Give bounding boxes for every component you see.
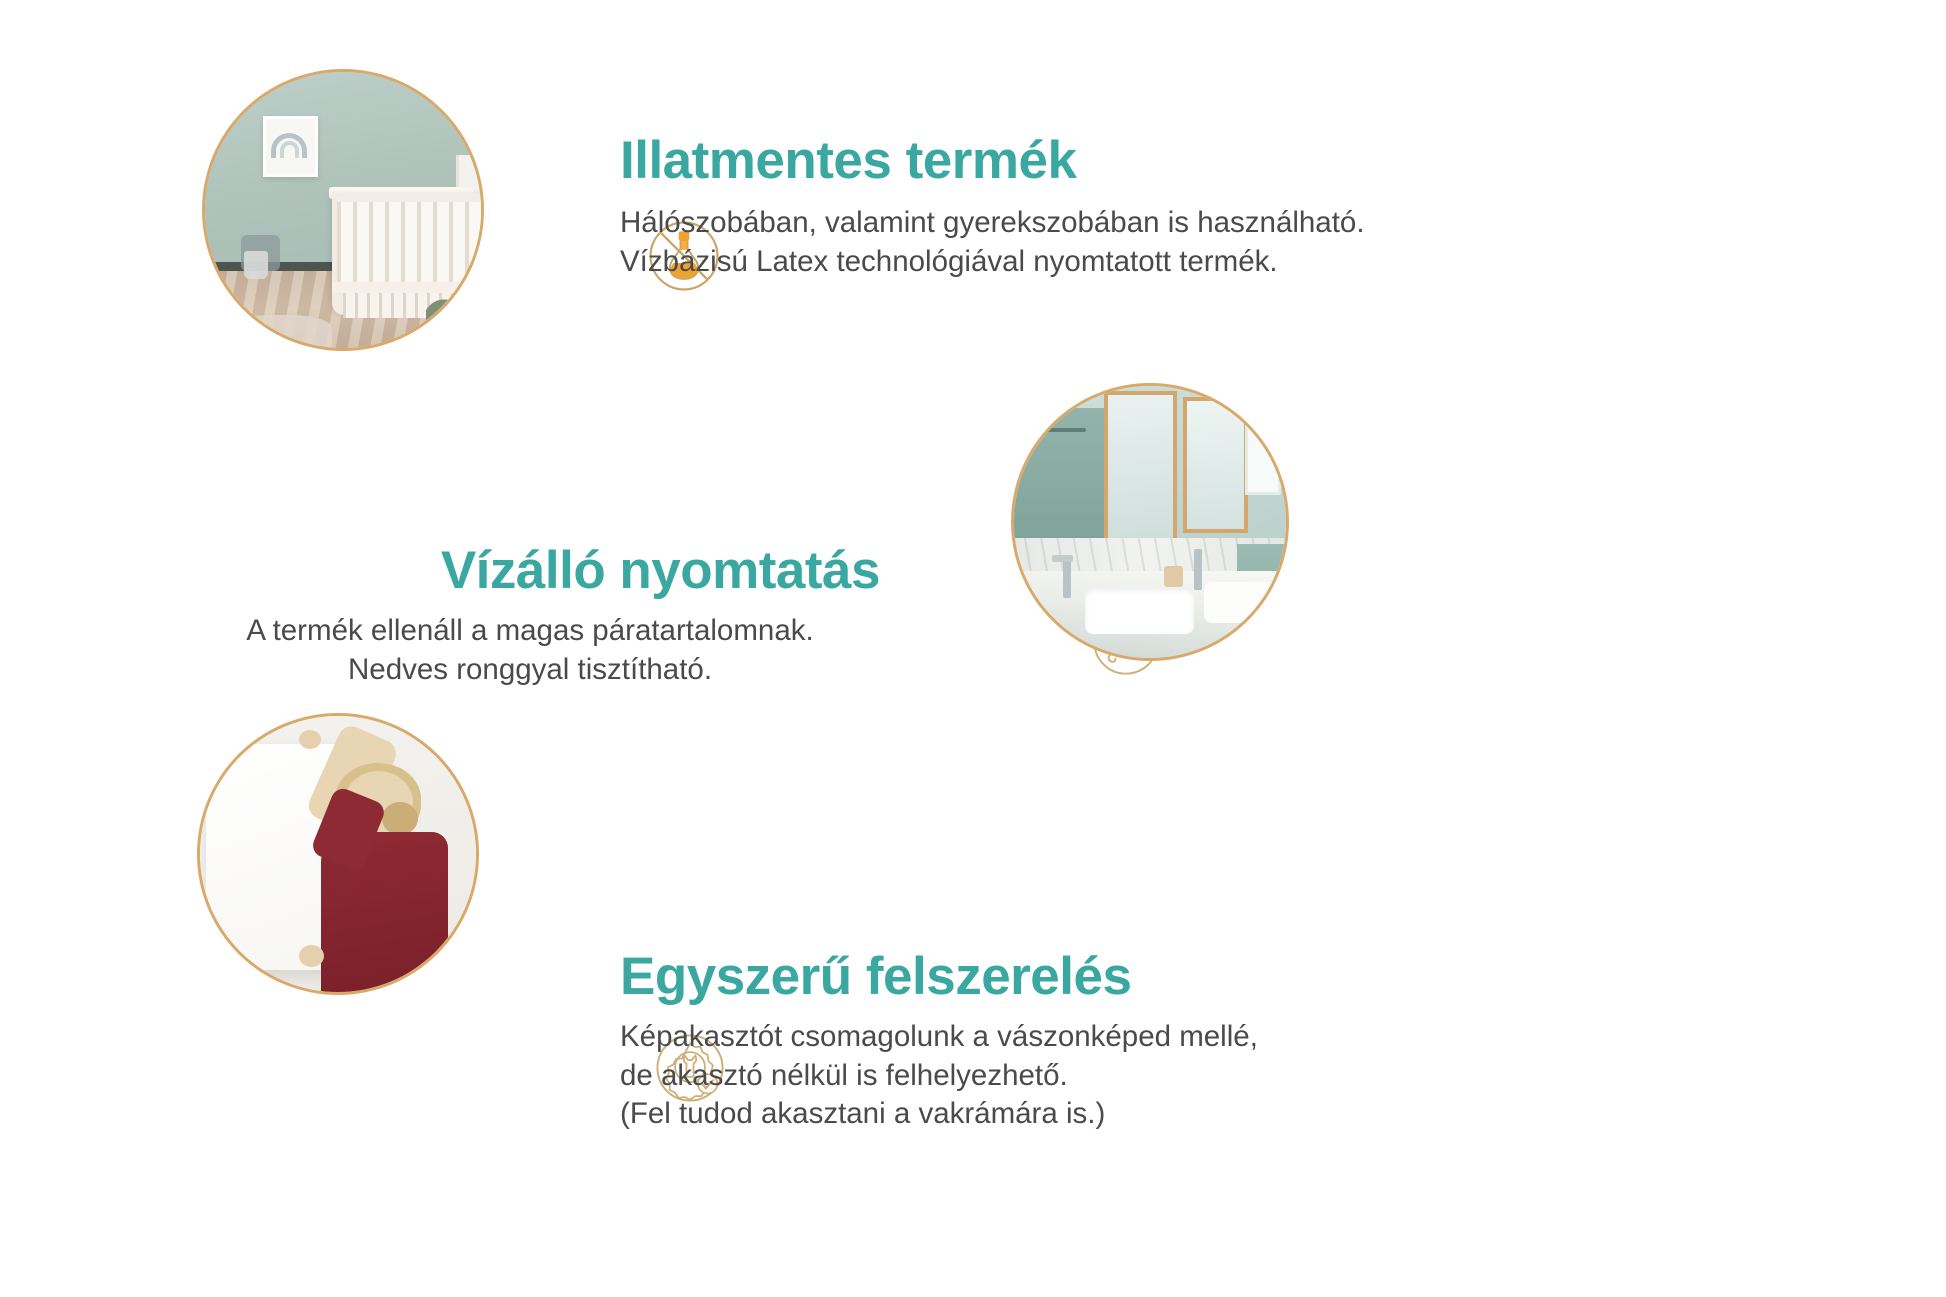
nursery-jar: [244, 251, 269, 279]
nursery-rug: [227, 315, 332, 348]
feature-waterproof-heading: Vízálló nyomtatás: [180, 542, 880, 600]
feature-scent-free-line-1: Hálószobában, valamint gyerekszobában is…: [620, 204, 1520, 242]
feature-waterproof-line-2: Nedves ronggyal tisztítható.: [180, 651, 880, 689]
feature-scent-free-heading: Illatmentes termék: [620, 132, 1520, 190]
bathroom-mirror-left: [1104, 391, 1177, 543]
bathroom-faucet-left: [1063, 555, 1071, 599]
woman-hair-bun: [382, 802, 418, 835]
feature-easy-mounting-line-1: Képakasztót csomagolunk a vászonképed me…: [620, 1018, 1560, 1056]
bathroom-photo: [1014, 386, 1286, 658]
bathroom-window: [1245, 402, 1280, 494]
feature-waterproof-line-1: A termék ellenáll a magas páratartalomna…: [180, 612, 880, 650]
feature-easy-mounting-text: Egyszerű felszerelés Képakasztót csomago…: [620, 948, 1560, 1133]
bathroom-cup: [1164, 566, 1183, 588]
bathroom-sink-left: [1085, 587, 1194, 633]
feature-easy-mounting-heading: Egyszerű felszerelés: [620, 948, 1560, 1006]
nursery-room-photo: [205, 72, 481, 348]
bathroom-faucet-right: [1194, 549, 1202, 590]
nursery-crib-mid-rail: [332, 282, 481, 293]
nursery-crib-bars: [337, 202, 481, 285]
bathroom-upper-cabinet-left: [1014, 408, 1106, 549]
woman-hanging-canvas-photo: [200, 716, 476, 992]
feature-scent-free-text: Illatmentes termék Hálószobában, valamin…: [620, 132, 1520, 281]
feature-waterproof-text: Vízálló nyomtatás A termék ellenáll a ma…: [180, 542, 880, 689]
bathroom-sink-right: [1204, 582, 1280, 623]
bathroom-mirror-right: [1183, 397, 1248, 533]
feature-easy-mounting-line-3: (Fel tudod akasztani a vakrámára is.): [620, 1095, 1560, 1133]
nursery-plant: [426, 298, 481, 348]
infographic-stage: Illatmentes termék Hálószobában, valamin…: [0, 0, 1946, 1297]
feature-scent-free-line-2: Vízbázisú Latex technológiával nyomtatot…: [620, 243, 1520, 281]
nursery-rainbow-arc-inner: [280, 141, 299, 158]
feature-easy-mounting-line-2: de akasztó nélkül is felhelyezhető.: [620, 1057, 1560, 1095]
